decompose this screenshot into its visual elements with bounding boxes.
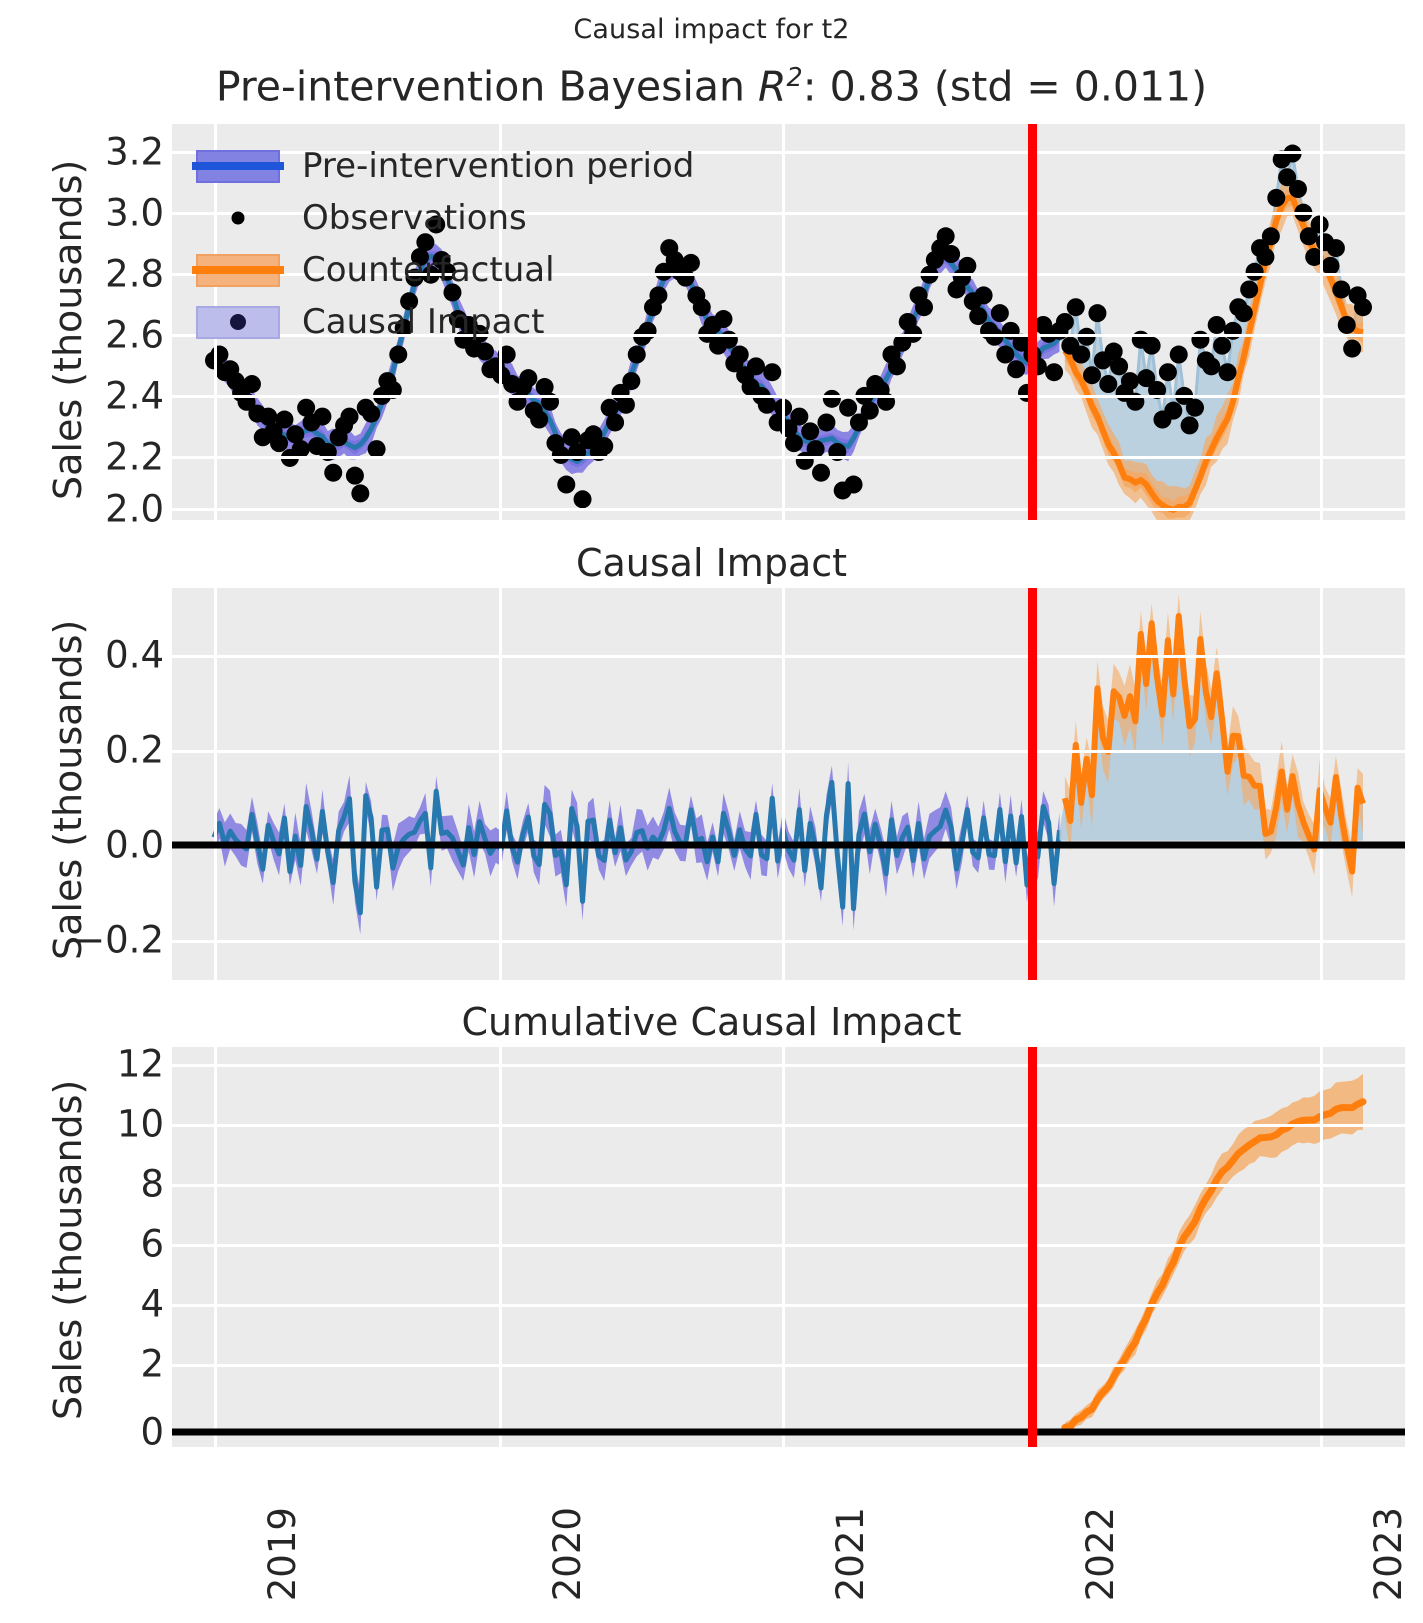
legend-swatch-dot bbox=[196, 202, 280, 235]
gridline-h bbox=[172, 508, 1405, 511]
gridline-v bbox=[499, 588, 502, 980]
intervention-line-panel2 bbox=[1028, 588, 1037, 980]
gridline-h bbox=[172, 1304, 1405, 1307]
panel-cumulative-causal-impact[interactable] bbox=[172, 1047, 1405, 1447]
gridline-v bbox=[1320, 124, 1323, 520]
gridline-v bbox=[1320, 1047, 1323, 1447]
panel2-title: Causal Impact bbox=[0, 541, 1423, 585]
gridline-h bbox=[172, 1244, 1405, 1247]
figure-title: Pre-intervention Bayesian R2: 0.83 (std … bbox=[0, 62, 1423, 111]
legend-label: Counterfactual bbox=[302, 250, 555, 290]
gridline-v bbox=[214, 1047, 217, 1447]
xtick: 2022 bbox=[1079, 1507, 1122, 1601]
panel3-ytick-labels: 12 10 8 6 4 2 0 bbox=[60, 0, 164, 1623]
gridline-h bbox=[172, 655, 1405, 658]
legend-item-observations[interactable]: Observations bbox=[196, 192, 694, 244]
panel2-plot bbox=[172, 588, 1405, 980]
legend-label: Causal Impact bbox=[302, 302, 545, 342]
legend-item-causal-impact[interactable]: Causal Impact bbox=[196, 296, 694, 348]
ytick: 12 bbox=[117, 1043, 164, 1086]
ytick: 10 bbox=[117, 1103, 164, 1146]
title-exponent: 2 bbox=[787, 62, 803, 92]
ytick: 6 bbox=[140, 1223, 164, 1266]
title-symbol: R bbox=[758, 63, 787, 111]
chart-legend: Pre-intervention period Observations Cou… bbox=[196, 140, 694, 348]
gridline-v bbox=[214, 588, 217, 980]
legend-item-counterfactual[interactable]: Counterfactual bbox=[196, 244, 694, 296]
legend-swatch-band-line bbox=[196, 150, 280, 183]
ytick: 2 bbox=[140, 1343, 164, 1386]
gridline-v bbox=[782, 124, 785, 520]
panel3-plot bbox=[172, 1047, 1405, 1447]
gridline-h bbox=[172, 456, 1405, 459]
ytick: 8 bbox=[140, 1163, 164, 1206]
figure-suptitle: Causal impact for t2 bbox=[0, 14, 1423, 45]
gridline-h bbox=[172, 750, 1405, 753]
intervention-line-panel1 bbox=[1028, 124, 1037, 520]
panel3-title: Cumulative Causal Impact bbox=[0, 1000, 1423, 1044]
legend-label: Pre-intervention period bbox=[302, 146, 694, 186]
gridline-h bbox=[172, 1184, 1405, 1187]
ytick: 4 bbox=[140, 1283, 164, 1326]
xtick: 2019 bbox=[261, 1507, 304, 1601]
zero-reference-line bbox=[172, 842, 1405, 849]
legend-label: Observations bbox=[302, 198, 527, 238]
title-suffix: : 0.83 (std = 0.011) bbox=[803, 63, 1207, 111]
xtick: 2020 bbox=[546, 1507, 589, 1601]
gridline-v bbox=[499, 1047, 502, 1447]
zero-reference-line bbox=[172, 1429, 1405, 1436]
gridline-h bbox=[172, 395, 1405, 398]
gridline-v bbox=[782, 1047, 785, 1447]
ytick: 0 bbox=[140, 1411, 164, 1454]
xtick: 2023 bbox=[1367, 1507, 1410, 1601]
gridline-h bbox=[172, 1364, 1405, 1367]
gridline-h bbox=[172, 940, 1405, 943]
legend-swatch-band-line bbox=[196, 254, 280, 287]
legend-swatch-band-dot bbox=[196, 306, 280, 339]
gridline-h bbox=[172, 1064, 1405, 1067]
gridline-v bbox=[782, 588, 785, 980]
panel-causal-impact[interactable] bbox=[172, 588, 1405, 980]
intervention-line-panel3 bbox=[1028, 1047, 1037, 1447]
gridline-v bbox=[1320, 588, 1323, 980]
causal-impact-figure: Causal impact for t2 Pre-intervention Ba… bbox=[0, 0, 1423, 1623]
xtick: 2021 bbox=[829, 1507, 872, 1601]
title-prefix: Pre-intervention Bayesian bbox=[216, 63, 758, 111]
gridline-h bbox=[172, 1124, 1405, 1127]
legend-item-pre-intervention[interactable]: Pre-intervention period bbox=[196, 140, 694, 192]
